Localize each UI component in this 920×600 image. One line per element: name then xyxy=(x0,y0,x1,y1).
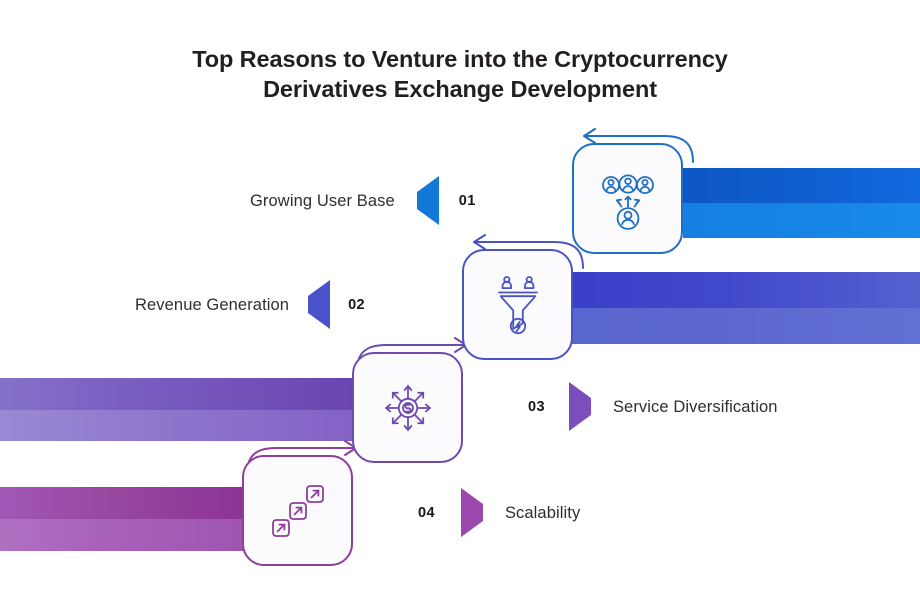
bar-4-band-bottom xyxy=(0,519,254,551)
progress-bar-4 xyxy=(0,487,254,551)
progress-bar-2 xyxy=(572,272,920,344)
row-2-arrow-marker xyxy=(308,296,330,314)
icon-card-scalability[interactable] xyxy=(242,455,353,566)
triangle-right-icon xyxy=(569,382,591,431)
reason-number-2: 02 xyxy=(348,297,365,313)
progress-bar-1 xyxy=(683,168,920,238)
user-growth-icon xyxy=(594,165,662,233)
bar-2-band-bottom xyxy=(572,308,920,344)
scalability-steps-icon xyxy=(264,477,332,545)
revenue-funnel-icon xyxy=(484,271,552,339)
reason-label-4: Scalability xyxy=(505,504,580,523)
bar-3-band-top xyxy=(0,378,354,410)
icon-card-growing-user-base[interactable] xyxy=(572,143,683,254)
bar-4-band-top xyxy=(0,487,254,519)
reason-number-1: 01 xyxy=(459,193,476,209)
bar-1-band-top xyxy=(683,168,920,203)
reason-row-3: 03 Service Diversification xyxy=(528,392,778,422)
reason-number-4: 04 xyxy=(418,505,435,521)
page-title-line-2: Derivatives Exchange Development xyxy=(0,74,920,104)
row-3-arrow-marker xyxy=(569,398,591,416)
reason-label-3: Service Diversification xyxy=(613,398,778,417)
icon-card-service-diversification[interactable] xyxy=(352,352,463,463)
bar-3-band-bottom xyxy=(0,410,354,442)
infographic-canvas: Top Reasons to Venture into the Cryptocu… xyxy=(0,0,920,600)
icon-card-revenue-generation[interactable] xyxy=(462,249,573,360)
reason-number-3: 03 xyxy=(528,399,545,415)
bar-1-band-bottom xyxy=(683,203,920,238)
page-title-line-1: Top Reasons to Venture into the Cryptocu… xyxy=(0,44,920,74)
triangle-left-icon xyxy=(308,280,330,329)
reason-row-2: Revenue Generation 02 xyxy=(135,290,365,320)
row-4-arrow-marker xyxy=(461,504,483,522)
service-hub-icon xyxy=(374,374,442,442)
reason-label-2: Revenue Generation xyxy=(135,296,289,315)
reason-row-4: 04 Scalability xyxy=(418,498,580,528)
triangle-right-icon xyxy=(461,488,483,537)
reason-row-1: Growing User Base 01 xyxy=(250,186,476,216)
page-title: Top Reasons to Venture into the Cryptocu… xyxy=(0,44,920,104)
reason-label-1: Growing User Base xyxy=(250,192,395,211)
row-1-arrow-marker xyxy=(417,192,439,210)
progress-bar-3 xyxy=(0,378,354,441)
triangle-left-icon xyxy=(417,176,439,225)
bar-2-band-top xyxy=(572,272,920,308)
